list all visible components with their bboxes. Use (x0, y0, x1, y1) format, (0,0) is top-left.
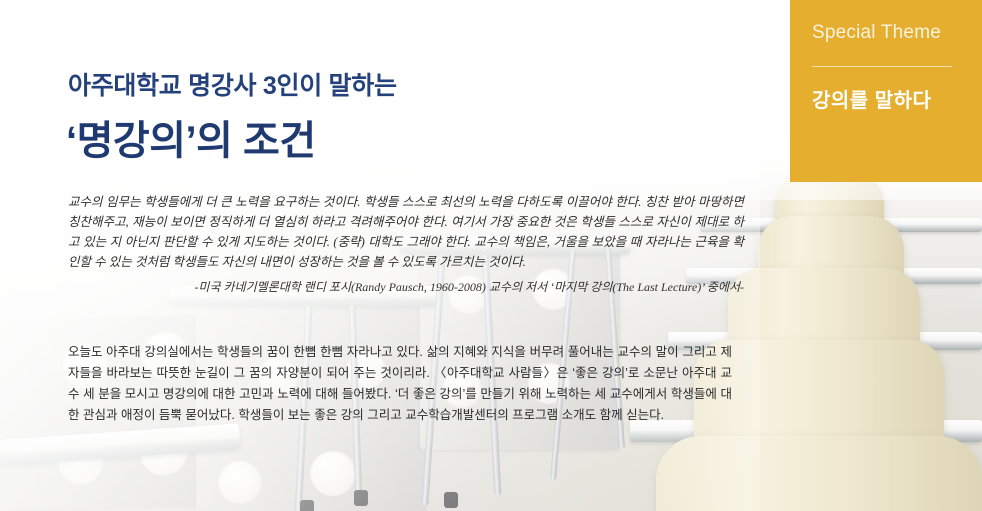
pull-quote-body: 교수의 임무는 학생들에게 더 큰 노력을 요구하는 것이다. 학생들 스스로 … (68, 192, 744, 272)
special-theme-panel: Special Theme 강의를 말하다 (790, 0, 982, 182)
pull-quote-attribution: -미국 카네기멜론대학 랜디 포시(Randy Pausch, 1960-200… (68, 278, 744, 296)
article-headline: ‘명강의’의 조건 (66, 108, 316, 166)
special-theme-eyebrow: Special Theme (812, 22, 941, 44)
article-lede: 오늘도 아주대 강의실에서는 학생들의 꿈이 한뼘 한뼘 자라나고 있다. 삶의… (68, 342, 732, 426)
page-root: Special Theme 강의를 말하다 아주대학교 명강사 3인이 말하는 … (0, 0, 982, 511)
special-theme-title: 강의를 말하다 (812, 84, 931, 113)
article-kicker: 아주대학교 명강사 3인이 말하는 (68, 66, 397, 102)
special-theme-divider (812, 66, 952, 67)
